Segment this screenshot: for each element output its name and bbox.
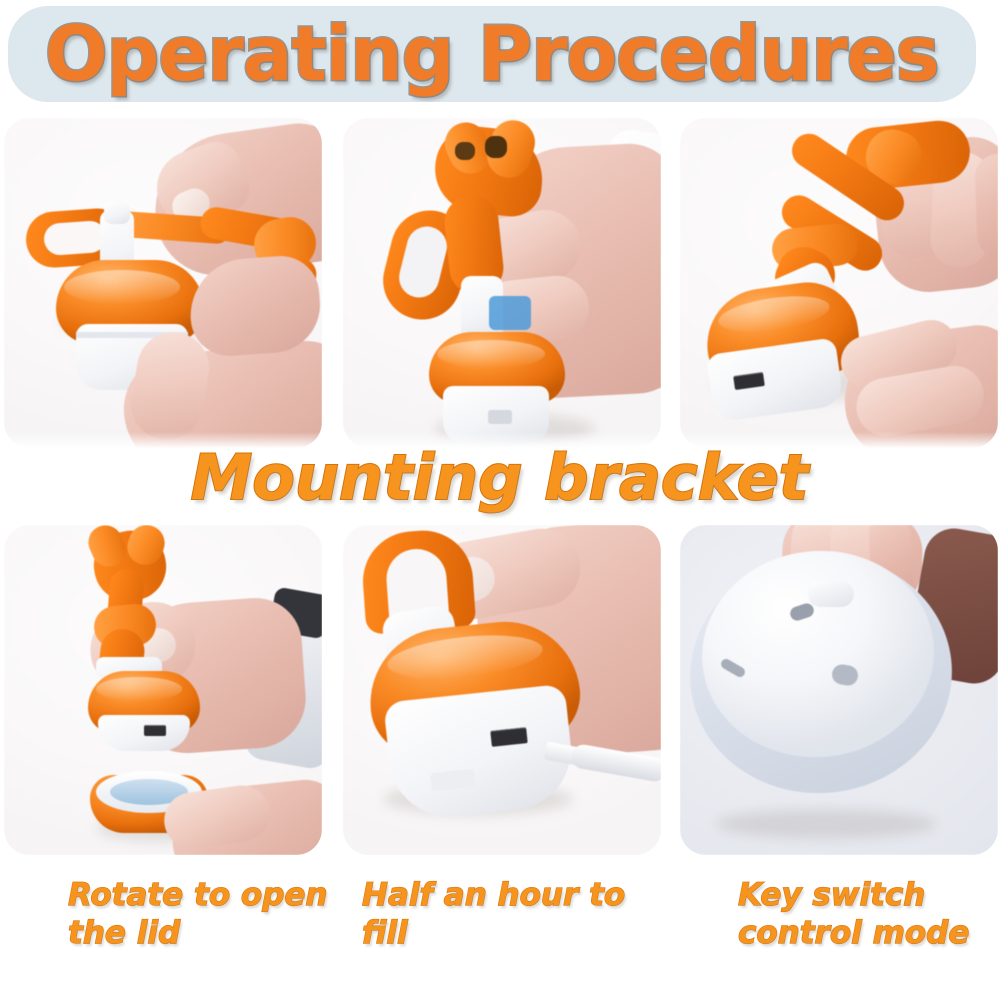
device-stem-cap — [104, 202, 130, 224]
title-banner: Operating Procedures — [8, 6, 976, 102]
steps-row-top — [0, 118, 999, 448]
dome-highlight — [96, 677, 182, 701]
steps-row-bottom — [0, 525, 999, 855]
power-button[interactable] — [808, 581, 854, 607]
usb-port — [144, 725, 166, 736]
caption-half-an-hour-to-fill: Half an hour to fill — [362, 876, 662, 952]
caption-key-switch-control-mode: Key switch control mode — [738, 876, 988, 952]
page-title: Operating Procedures — [45, 14, 939, 94]
step-photo-4 — [4, 525, 322, 855]
mounting-bracket-label: Mounting bracket — [191, 445, 809, 511]
finger-3 — [974, 153, 998, 259]
blue-accent — [489, 296, 531, 330]
rope-dark-spot-b — [485, 136, 507, 158]
dome-highlight — [437, 340, 545, 368]
caption-rotate-to-open-the-lid: Rotate to open the lid — [68, 876, 338, 952]
step-photo-2 — [343, 118, 661, 448]
step-2-image — [343, 118, 661, 448]
rope-loop-hole — [43, 220, 107, 256]
step-4-image — [4, 525, 322, 855]
step-5-image — [343, 525, 661, 855]
rope-dark-spot-a — [455, 142, 475, 160]
step-3-image — [680, 118, 998, 448]
captions-row: Rotate to open the lid Half an hour to f… — [0, 868, 999, 988]
dome-highlight — [64, 270, 180, 304]
step-6-image — [680, 525, 998, 855]
mounting-bracket-label-band: Mounting bracket — [0, 432, 999, 524]
step-1-image — [4, 118, 322, 448]
operating-procedures-infographic: Operating Procedures — [0, 0, 999, 988]
step-photo-6 — [680, 525, 998, 855]
step-photo-1 — [4, 118, 322, 448]
step-photo-5 — [343, 525, 661, 855]
base-vent — [488, 410, 512, 424]
step-photo-3 — [680, 118, 998, 448]
